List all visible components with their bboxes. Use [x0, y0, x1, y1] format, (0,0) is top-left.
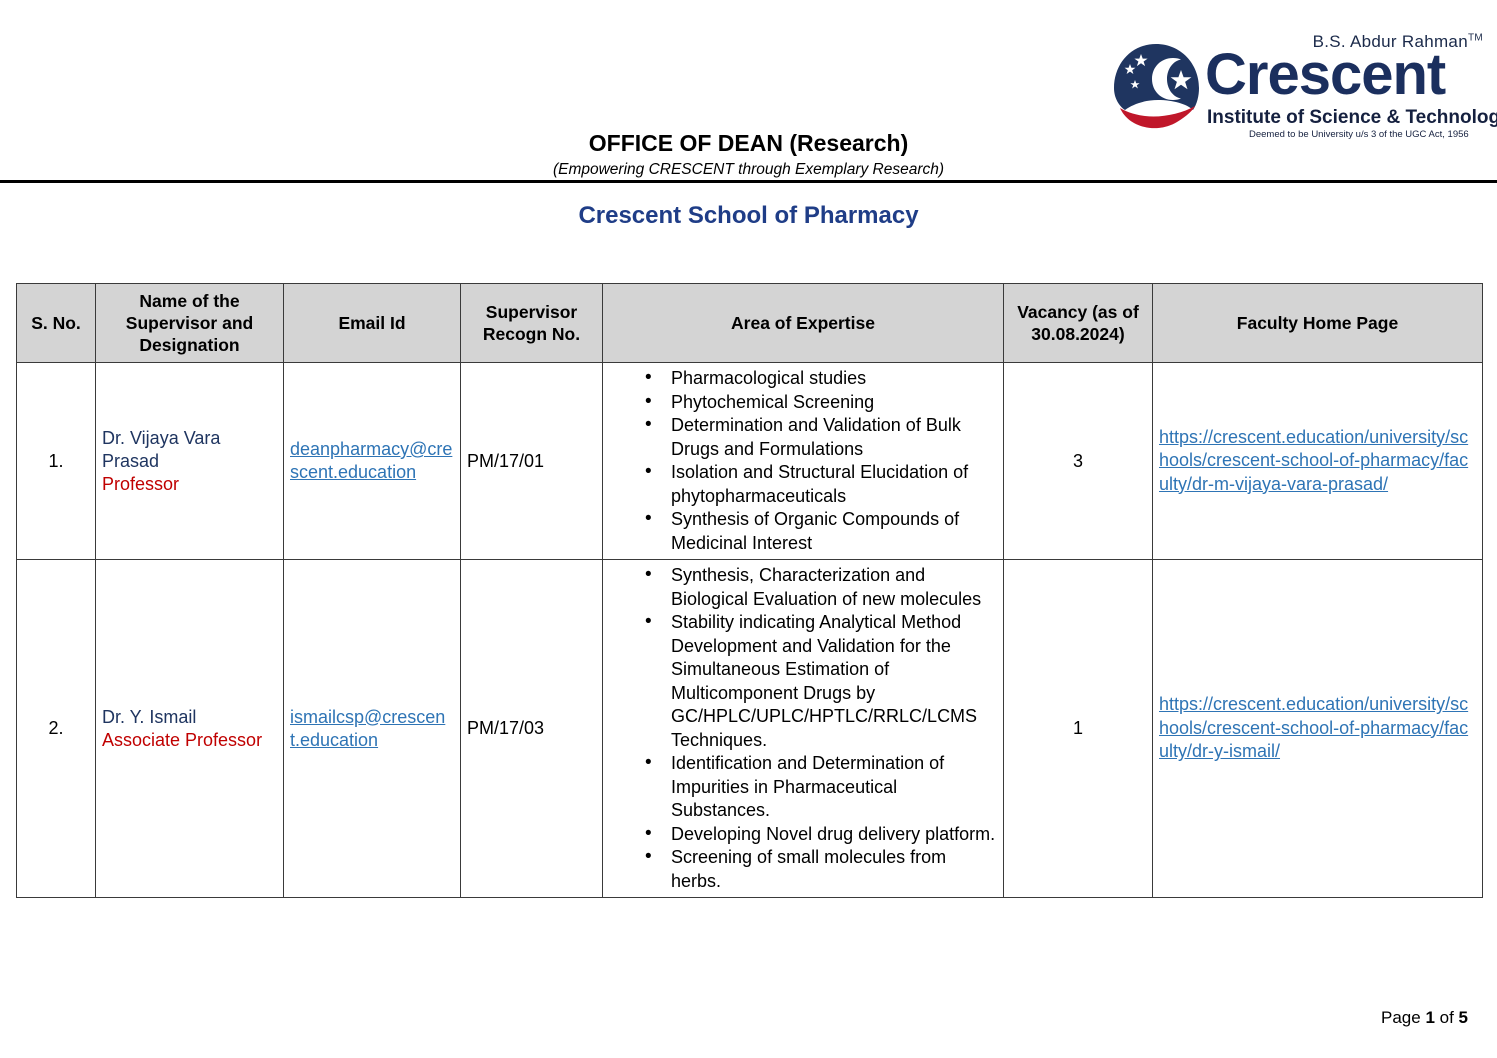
- crescent-moon-star-logo-icon: [1111, 42, 1201, 130]
- header-divider: [0, 180, 1497, 183]
- footer-total-pages: 5: [1459, 1008, 1468, 1027]
- column-header-vacancy: Vacancy (as of 30.08.2024): [1004, 284, 1153, 363]
- cell-expertise: Synthesis, Characterization and Biologic…: [603, 560, 1004, 898]
- expertise-item: Phytochemical Screening: [645, 391, 997, 415]
- footer-prefix: Page: [1381, 1008, 1425, 1027]
- expertise-item: Synthesis, Characterization and Biologic…: [645, 564, 997, 611]
- supervisor-name: Dr. Y. Ismail: [102, 706, 277, 729]
- cell-home-page: https://crescent.education/university/sc…: [1153, 560, 1483, 898]
- supervisor-name: Dr. Vijaya Vara Prasad: [102, 427, 277, 473]
- cell-supervisor-name: Dr. Y. Ismail Associate Professor: [96, 560, 284, 898]
- column-header-email: Email Id: [284, 284, 461, 363]
- cell-sno: 2.: [17, 560, 96, 898]
- expertise-item: Developing Novel drug delivery platform.: [645, 823, 997, 847]
- cell-supervisor-name: Dr. Vijaya Vara Prasad Professor: [96, 363, 284, 560]
- expertise-item: Isolation and Structural Elucidation of …: [645, 461, 997, 508]
- cell-recogn-no: PM/17/03: [461, 560, 603, 898]
- expertise-item: Pharmacological studies: [645, 367, 997, 391]
- supervisors-table-wrapper: S. No. Name of the Supervisor and Design…: [16, 283, 1482, 898]
- expertise-list: Synthesis, Characterization and Biologic…: [609, 564, 997, 893]
- table-row: 1. Dr. Vijaya Vara Prasad Professor dean…: [17, 363, 1483, 560]
- expertise-list: Pharmacological studies Phytochemical Sc…: [609, 367, 997, 555]
- cell-recogn-no: PM/17/01: [461, 363, 603, 560]
- cell-home-page: https://crescent.education/university/sc…: [1153, 363, 1483, 560]
- page-footer: Page 1 of 5: [0, 1008, 1468, 1028]
- table-header: S. No. Name of the Supervisor and Design…: [17, 284, 1483, 363]
- supervisors-table: S. No. Name of the Supervisor and Design…: [16, 283, 1483, 898]
- faculty-home-page-link[interactable]: https://crescent.education/university/sc…: [1159, 427, 1468, 494]
- table-body: 1. Dr. Vijaya Vara Prasad Professor dean…: [17, 363, 1483, 898]
- email-link[interactable]: ismailcsp@crescent.education: [290, 707, 445, 750]
- school-heading: Crescent School of Pharmacy: [0, 202, 1497, 230]
- expertise-item: Identification and Determination of Impu…: [645, 752, 997, 823]
- expertise-item: Synthesis of Organic Compounds of Medici…: [645, 508, 997, 555]
- column-header-name: Name of the Supervisor and Designation: [96, 284, 284, 363]
- faculty-home-page-link[interactable]: https://crescent.education/university/sc…: [1159, 694, 1468, 761]
- footer-current-page: 1: [1425, 1008, 1434, 1027]
- table-row: 2. Dr. Y. Ismail Associate Professor ism…: [17, 560, 1483, 898]
- footer-middle: of: [1435, 1008, 1459, 1027]
- cell-email: deanpharmacy@crescent.education: [284, 363, 461, 560]
- expertise-item: Determination and Validation of Bulk Dru…: [645, 414, 997, 461]
- logo-tagline: Institute of Science & Technology: [1207, 108, 1497, 128]
- institution-logo: B.S. Abdur RahmanTM Crescent Institute o…: [1111, 28, 1483, 136]
- logo-trademark-symbol: TM: [1468, 32, 1483, 43]
- email-link[interactable]: deanpharmacy@crescent.education: [290, 439, 452, 482]
- column-header-expertise: Area of Expertise: [603, 284, 1004, 363]
- logo-wordmark: Crescent: [1205, 46, 1445, 104]
- column-header-recogn-no: Supervisor Recogn No.: [461, 284, 603, 363]
- page-title: OFFICE OF DEAN (Research): [0, 130, 1497, 157]
- expertise-item: Screening of small molecules from herbs.: [645, 846, 997, 893]
- cell-email: ismailcsp@crescent.education: [284, 560, 461, 898]
- page-subtitle: (Empowering CRESCENT through Exemplary R…: [0, 161, 1497, 179]
- supervisor-designation: Associate Professor: [102, 729, 277, 752]
- cell-expertise: Pharmacological studies Phytochemical Sc…: [603, 363, 1004, 560]
- table-header-row: S. No. Name of the Supervisor and Design…: [17, 284, 1483, 363]
- cell-sno: 1.: [17, 363, 96, 560]
- column-header-sno: S. No.: [17, 284, 96, 363]
- column-header-home-page: Faculty Home Page: [1153, 284, 1483, 363]
- cell-vacancy: 1: [1004, 560, 1153, 898]
- expertise-item: Stability indicating Analytical Method D…: [645, 611, 997, 752]
- cell-vacancy: 3: [1004, 363, 1153, 560]
- supervisor-designation: Professor: [102, 473, 277, 496]
